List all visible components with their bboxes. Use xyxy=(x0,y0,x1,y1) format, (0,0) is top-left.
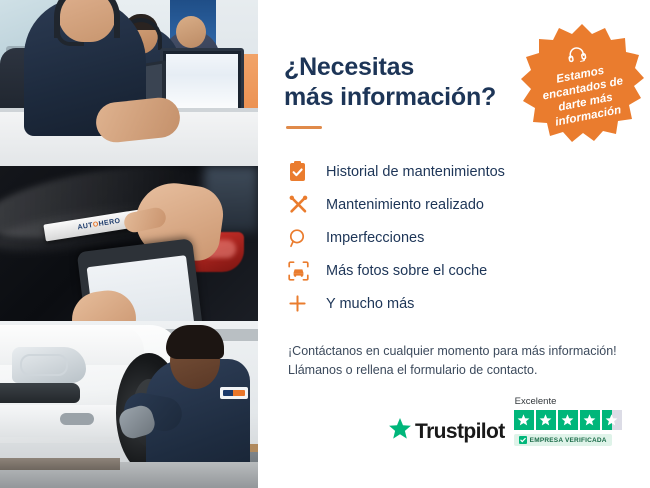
rating-label: Excelente xyxy=(515,396,557,407)
contact-line2: Llámanos o rellena el formulario de cont… xyxy=(288,363,537,377)
page-title-line1: ¿Necesitas xyxy=(284,53,414,81)
inspection-ruler-photo: AUTOHERO xyxy=(0,166,258,321)
feature-label: Más fotos sobre el coche xyxy=(326,263,487,279)
car-frame-icon xyxy=(288,258,318,284)
verified-label: EMPRESA VERIFICADA xyxy=(530,437,607,444)
title-divider xyxy=(286,126,322,129)
clipboard-check-icon xyxy=(288,159,318,185)
feature-label: Y mucho más xyxy=(326,296,414,312)
plus-icon xyxy=(288,291,318,317)
contact-line1: ¡Contáctanos en cualquier momento para m… xyxy=(288,344,617,358)
trustpilot-widget[interactable]: Trustpilot Excelente xyxy=(388,396,622,446)
crossed-tools-icon xyxy=(288,192,318,218)
feature-label: Mantenimiento realizado xyxy=(326,197,484,213)
star-filled xyxy=(580,410,600,430)
magnifier-icon xyxy=(288,225,318,251)
star-half xyxy=(602,410,622,430)
feature-item-imperfecciones: Imperfecciones xyxy=(288,221,650,254)
feature-item-historial: Historial de mantenimientos xyxy=(288,155,650,188)
check-icon xyxy=(519,436,527,444)
trustpilot-logo: Trustpilot xyxy=(388,418,505,446)
marketing-panel: AUTOHERO xyxy=(0,0,650,488)
info-badge: Estamos encantados de darte más informac… xyxy=(520,22,644,146)
headset-icon xyxy=(565,43,588,68)
verified-badge: EMPRESA VERIFICADA xyxy=(514,434,612,446)
star-filled xyxy=(536,410,556,430)
photo-collage: AUTOHERO xyxy=(0,0,258,488)
star-rating xyxy=(514,410,622,430)
contact-text: ¡Contáctanos en cualquier momento para m… xyxy=(288,342,650,380)
trustpilot-rating: Excelente xyxy=(514,396,622,446)
page-title-line2: más información? xyxy=(284,83,496,111)
trustpilot-wordmark: Trustpilot xyxy=(415,420,505,444)
star-filled xyxy=(514,410,534,430)
feature-list: Historial de mantenimientos Mantenimient… xyxy=(288,155,650,320)
call-center-agents-photo xyxy=(0,0,258,166)
mechanic-wheel-photo xyxy=(0,321,258,488)
feature-label: Historial de mantenimientos xyxy=(326,164,505,180)
content-panel: ¿Necesitas más información? Historial de… xyxy=(258,0,650,488)
badge-text: Estamos encantados de darte más informac… xyxy=(528,58,641,133)
trustpilot-star-icon xyxy=(388,418,412,446)
star-filled xyxy=(558,410,578,430)
feature-label: Imperfecciones xyxy=(326,230,424,246)
feature-item-fotos: Más fotos sobre el coche xyxy=(288,254,650,287)
feature-item-mas: Y mucho más xyxy=(288,287,650,320)
feature-item-mantenimiento: Mantenimiento realizado xyxy=(288,188,650,221)
